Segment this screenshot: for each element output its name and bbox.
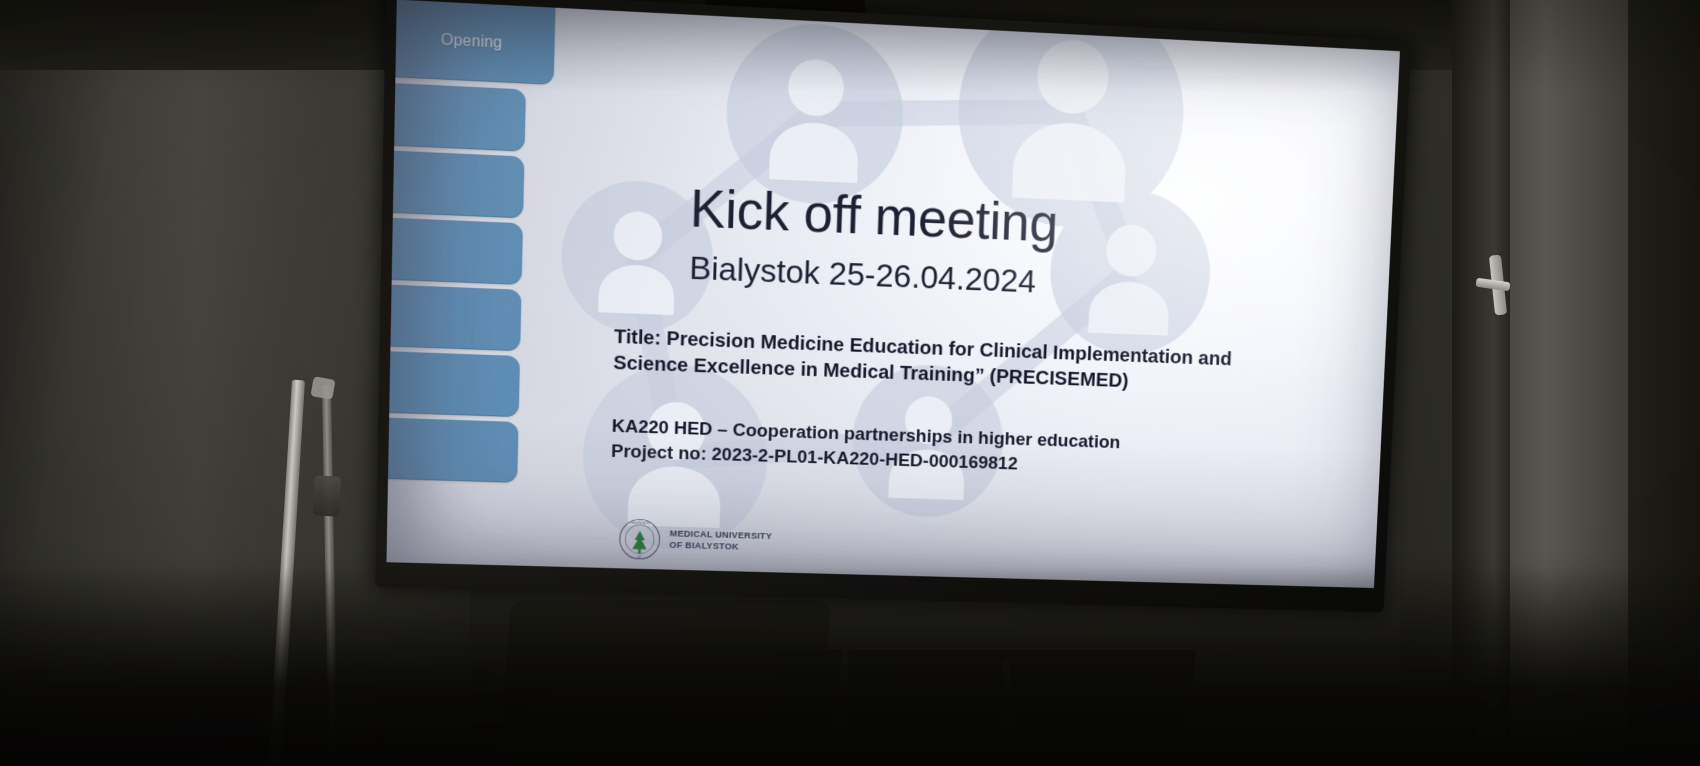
- easel-stand-clamp: [313, 475, 341, 516]
- university-logo: UNIVERSITY OF MEDICAL UNIVERSITY OF BIAL…: [618, 518, 772, 564]
- sidebar-tab-label: Opening: [441, 32, 503, 53]
- presentation-slide: Opening Kick off meeting Bialystok 25-26…: [386, 0, 1399, 588]
- tree-emblem-icon: UNIVERSITY OF: [618, 518, 661, 561]
- tv-screen[interactable]: Opening Kick off meeting Bialystok 25-26…: [386, 0, 1399, 588]
- svg-text:UNIVERSITY: UNIVERSITY: [630, 521, 651, 525]
- sidebar-tab-7[interactable]: [386, 417, 518, 482]
- slide-content: Kick off meeting Bialystok 25-26.04.2024…: [502, 6, 1400, 588]
- slide-tab-rail: Opening: [386, 0, 514, 565]
- slide-title: Kick off meeting: [689, 177, 1059, 254]
- floor-shadow: [0, 566, 1700, 766]
- university-logo-text: MEDICAL UNIVERSITY OF BIALYSTOK: [669, 528, 772, 554]
- svg-text:OF: OF: [637, 555, 642, 559]
- project-title-text: Title: Precision Medicine Education for …: [613, 324, 1273, 399]
- sidebar-tab-6[interactable]: [386, 351, 520, 417]
- television: Opening Kick off meeting Bialystok 25-26…: [375, 0, 1411, 612]
- slide-subtitle: Bialystok 25-26.04.2024: [689, 250, 1037, 301]
- sidebar-tab-5[interactable]: [386, 284, 521, 351]
- easel-stand-head: [310, 376, 335, 400]
- sidebar-tab-2[interactable]: [386, 83, 526, 152]
- sidebar-tab-4[interactable]: [386, 218, 523, 285]
- sidebar-tab-3[interactable]: [386, 150, 524, 218]
